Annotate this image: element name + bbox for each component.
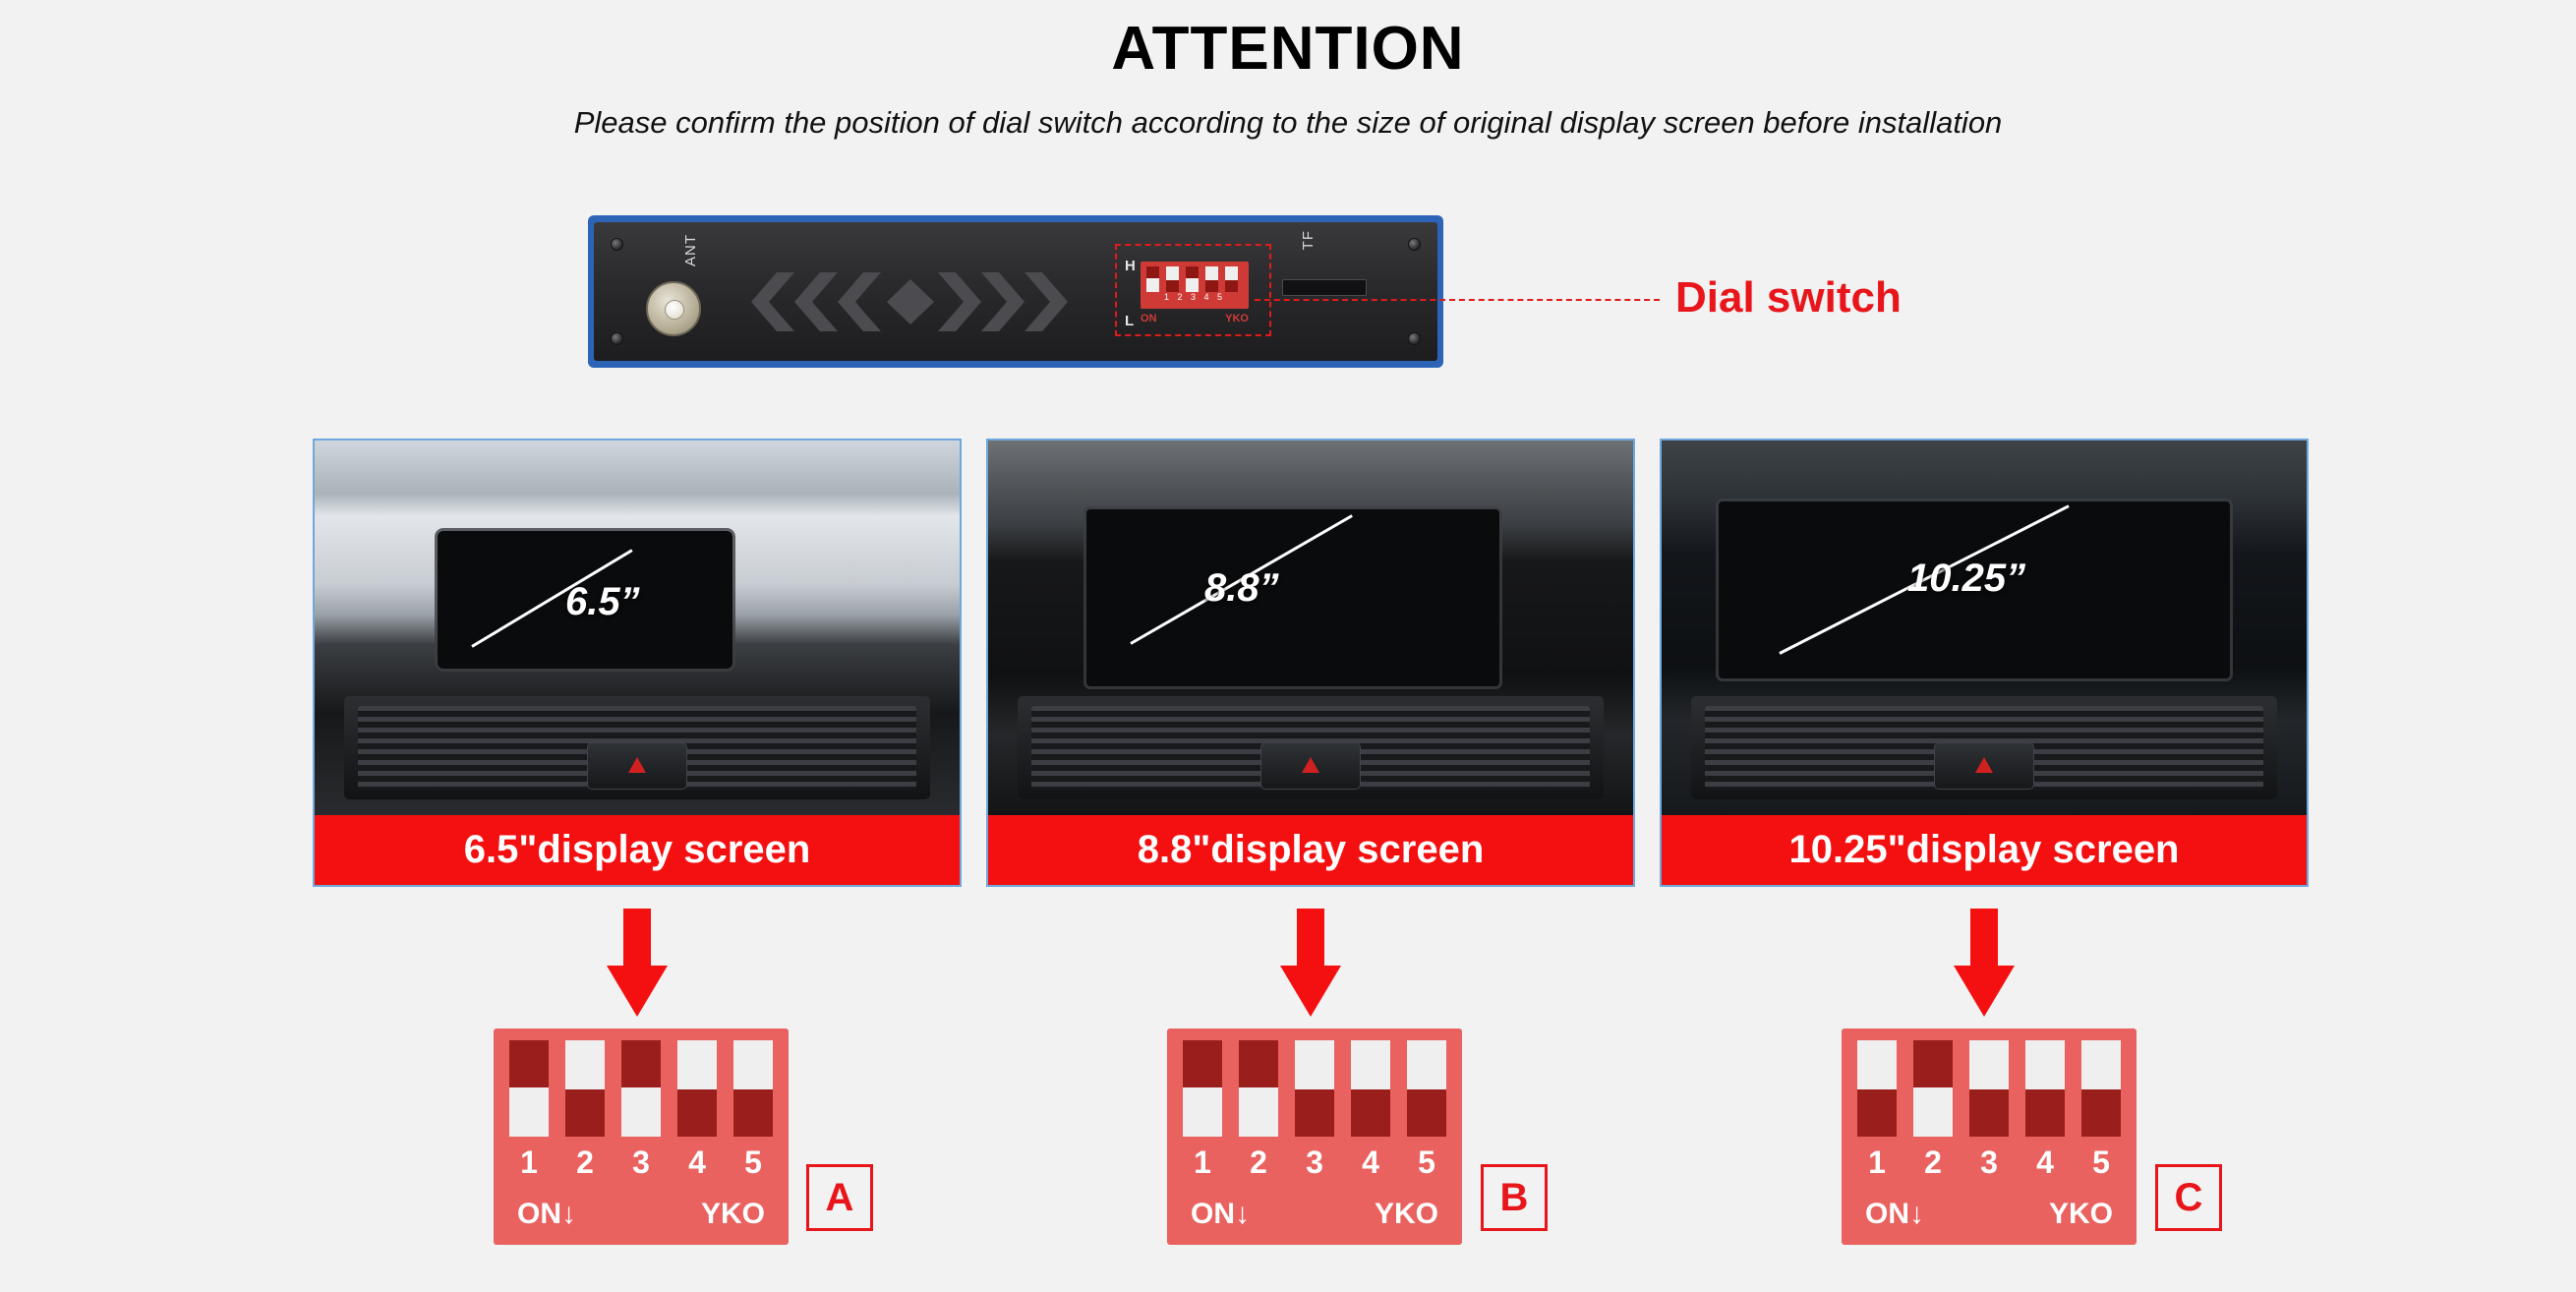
dip-yko-label: YKO bbox=[701, 1198, 765, 1231]
dip-switch-numbers: 1 2 3 4 5 bbox=[1857, 1145, 2121, 1181]
dip-number: 4 bbox=[1351, 1145, 1390, 1181]
dashboard-photo: 10.25” bbox=[1662, 440, 2307, 819]
card-caption: 10.25"display screen bbox=[1662, 815, 2307, 885]
card-caption: 8.8"display screen bbox=[988, 815, 1633, 885]
dip-switch-setting-b[interactable]: 1 2 3 4 5 ON↓ YKO bbox=[1167, 1028, 1462, 1245]
card-caption: 6.5"display screen bbox=[315, 815, 960, 885]
screen-size-label: 8.8” bbox=[1204, 566, 1279, 611]
down-arrow-icon bbox=[1954, 909, 2015, 1017]
ant-port-label: ANT bbox=[682, 234, 699, 266]
sma-antenna-connector-icon bbox=[646, 281, 701, 336]
dip-number: 1 bbox=[1857, 1145, 1897, 1181]
dip-number: 1 bbox=[1183, 1145, 1222, 1181]
dip-on-label: ON↓ bbox=[1191, 1198, 1250, 1231]
dip-switch-row[interactable] bbox=[1857, 1040, 2121, 1137]
dip-switch-1[interactable] bbox=[1183, 1040, 1222, 1137]
screw-icon bbox=[611, 332, 623, 345]
page-title: ATTENTION bbox=[0, 14, 2576, 84]
hazard-triangle-icon bbox=[1975, 757, 1993, 773]
dip-switch-5[interactable] bbox=[1407, 1040, 1446, 1137]
screw-icon bbox=[1408, 238, 1421, 251]
dip-number: 5 bbox=[2081, 1145, 2121, 1181]
down-arrow-icon bbox=[1280, 909, 1341, 1017]
screw-icon bbox=[1408, 332, 1421, 345]
dip-number: 5 bbox=[1407, 1145, 1446, 1181]
dip-switch-3[interactable] bbox=[1969, 1040, 2009, 1137]
option-tag-b: B bbox=[1481, 1164, 1548, 1231]
dip-switch-legend: ON↓ YKO bbox=[517, 1198, 765, 1231]
page-subtitle: Please confirm the position of dial swit… bbox=[0, 105, 2576, 141]
dip-on-label: ON↓ bbox=[517, 1198, 576, 1231]
dip-number: 4 bbox=[2025, 1145, 2065, 1181]
dip-switch-4[interactable] bbox=[677, 1040, 717, 1137]
screen-example-card: 10.25” 10.25"display screen bbox=[1660, 439, 2309, 887]
dip-number: 5 bbox=[733, 1145, 773, 1181]
screen-example-card: 8.8” 8.8"display screen bbox=[986, 439, 1635, 887]
hazard-button[interactable] bbox=[1934, 742, 2034, 790]
down-arrow-icon bbox=[607, 909, 668, 1017]
dip-switch-2[interactable] bbox=[1239, 1040, 1278, 1137]
dip-switch-1[interactable] bbox=[509, 1040, 549, 1137]
device-faceplate: ANT H L 1 2 3 4 5 bbox=[594, 222, 1437, 361]
tf-card-slot bbox=[1282, 279, 1367, 296]
dip-switch-legend: ON↓ YKO bbox=[1191, 1198, 1438, 1231]
dip-number: 4 bbox=[677, 1145, 717, 1181]
dip-switch-5[interactable] bbox=[733, 1040, 773, 1137]
factory-display-screen bbox=[1086, 509, 1499, 686]
dip-switch-2[interactable] bbox=[1913, 1040, 1953, 1137]
dip-number: 3 bbox=[1295, 1145, 1334, 1181]
dial-switch-highlight-box bbox=[1115, 244, 1271, 336]
dip-switch-setting-c[interactable]: 1 2 3 4 5 ON↓ YKO bbox=[1842, 1028, 2137, 1245]
dip-number: 2 bbox=[1239, 1145, 1278, 1181]
hazard-button[interactable] bbox=[1260, 742, 1361, 790]
dashboard-photo: 8.8” bbox=[988, 440, 1633, 819]
dip-switch-4[interactable] bbox=[1351, 1040, 1390, 1137]
dip-switch-setting-a[interactable]: 1 2 3 4 5 ON↓ YKO bbox=[494, 1028, 789, 1245]
dip-switch-1[interactable] bbox=[1857, 1040, 1897, 1137]
screen-size-examples: 6.5” 6.5"display screen 8.8” 8.8"display… bbox=[0, 439, 2576, 891]
dip-number: 1 bbox=[509, 1145, 549, 1181]
dip-switch-row[interactable] bbox=[509, 1040, 773, 1137]
hazard-triangle-icon bbox=[628, 757, 646, 773]
dip-number: 3 bbox=[621, 1145, 661, 1181]
screen-example-card: 6.5” 6.5"display screen bbox=[313, 439, 962, 887]
device-module-illustration: ANT H L 1 2 3 4 5 bbox=[588, 215, 1443, 368]
screen-size-label: 6.5” bbox=[565, 580, 640, 624]
dip-switch-legend: ON↓ YKO bbox=[1865, 1198, 2113, 1231]
screw-icon bbox=[611, 238, 623, 251]
chevron-decoration bbox=[751, 267, 1105, 336]
dip-number: 2 bbox=[1913, 1145, 1953, 1181]
dial-switch-callout: Dial switch bbox=[1675, 273, 1902, 323]
dip-number: 3 bbox=[1969, 1145, 2009, 1181]
dip-on-label: ON↓ bbox=[1865, 1198, 1924, 1231]
dip-switch-numbers: 1 2 3 4 5 bbox=[509, 1145, 773, 1181]
hazard-button[interactable] bbox=[587, 742, 687, 790]
tf-slot-label: TF bbox=[1300, 230, 1317, 250]
option-tag-a: A bbox=[806, 1164, 873, 1231]
option-tag-c: C bbox=[2155, 1164, 2222, 1231]
dip-switch-3[interactable] bbox=[621, 1040, 661, 1137]
screen-size-label: 10.25” bbox=[1907, 557, 2025, 601]
dashboard-photo: 6.5” bbox=[315, 440, 960, 819]
dip-switch-2[interactable] bbox=[565, 1040, 605, 1137]
dip-number: 2 bbox=[565, 1145, 605, 1181]
dip-switch-3[interactable] bbox=[1295, 1040, 1334, 1137]
dip-switch-5[interactable] bbox=[2081, 1040, 2121, 1137]
chevron-pattern-icon bbox=[751, 267, 1105, 336]
dip-yko-label: YKO bbox=[2049, 1198, 2113, 1231]
dip-switch-numbers: 1 2 3 4 5 bbox=[1183, 1145, 1446, 1181]
dip-switch-4[interactable] bbox=[2025, 1040, 2065, 1137]
dip-yko-label: YKO bbox=[1375, 1198, 1438, 1231]
dial-switch-leader-line bbox=[1255, 299, 1660, 301]
hazard-triangle-icon bbox=[1302, 757, 1319, 773]
dip-switch-row[interactable] bbox=[1183, 1040, 1446, 1137]
